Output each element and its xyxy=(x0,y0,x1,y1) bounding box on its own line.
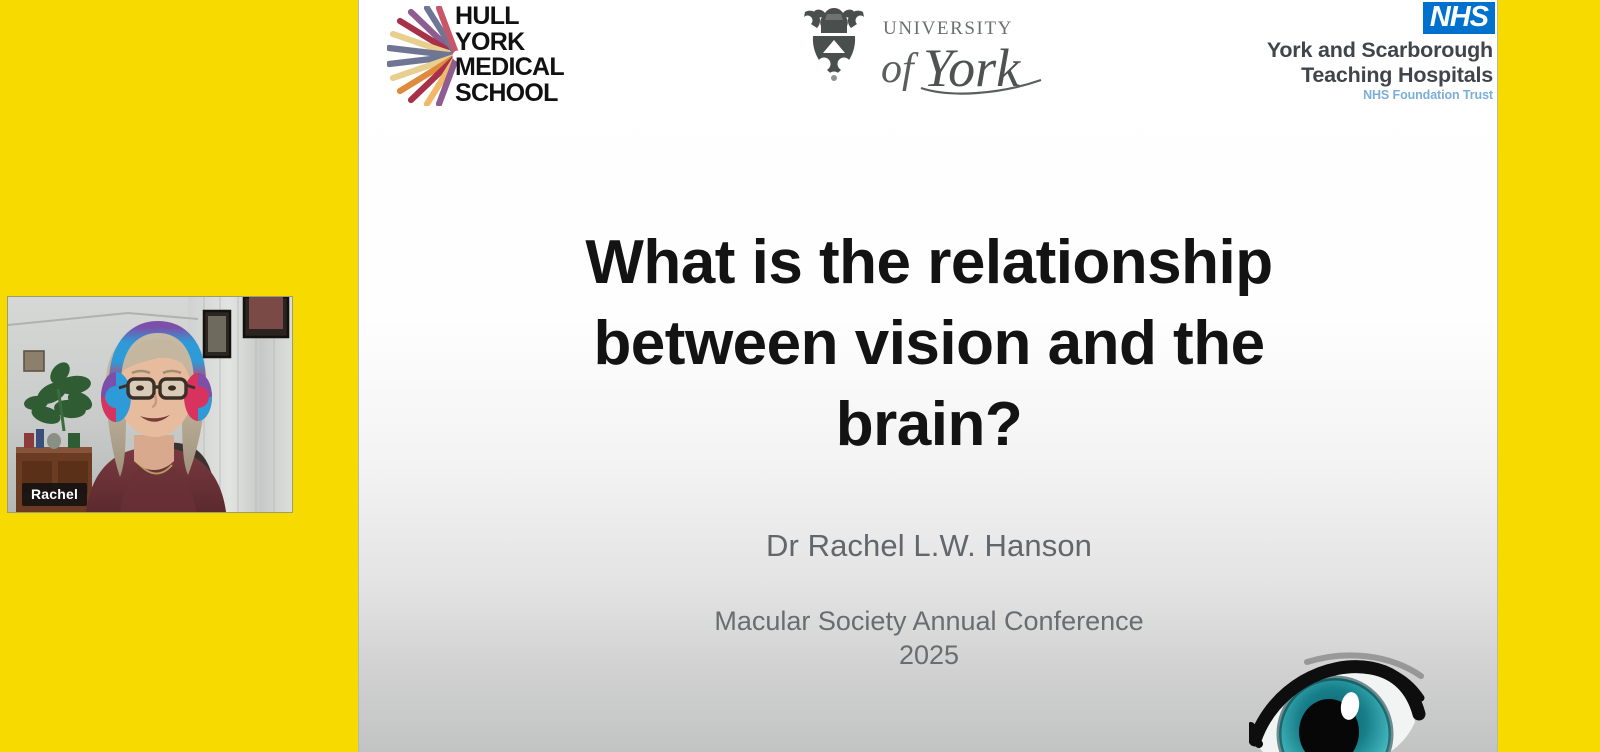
svg-text:UNIVERSITY: UNIVERSITY xyxy=(883,18,1013,39)
eye-illustration-icon xyxy=(1249,648,1429,752)
slide-logo-strip: HULL YORK MEDICAL SCHOOL xyxy=(359,0,1497,120)
slide-title-line-2: between vision and the xyxy=(429,303,1429,384)
shared-slide[interactable]: HULL YORK MEDICAL SCHOOL xyxy=(358,0,1498,752)
hyms-wordmark: HULL YORK MEDICAL SCHOOL xyxy=(455,4,564,106)
slide-title-line-1: What is the relationship xyxy=(429,222,1429,303)
heraldic-crest-icon xyxy=(791,2,877,106)
hyms-line-3: MEDICAL xyxy=(455,55,564,81)
logo-hull-york-medical-school: HULL YORK MEDICAL SCHOOL xyxy=(387,4,597,108)
university-of-york-wordmark: UNIVERSITY of York xyxy=(881,14,1049,96)
nhs-trust-line-1: York and Scarborough xyxy=(1267,38,1493,63)
logo-university-of-york: UNIVERSITY of York xyxy=(791,2,1051,110)
nhs-foundation-trust-label: NHS Foundation Trust xyxy=(1363,88,1493,102)
participant-video-feed xyxy=(8,297,292,512)
svg-text:of: of xyxy=(881,46,919,92)
starburst-icon xyxy=(387,6,465,106)
video-call-stage: HULL YORK MEDICAL SCHOOL xyxy=(0,0,1600,752)
logo-nhs-trust: NHS York and Scarborough Teaching Hospit… xyxy=(1223,0,1495,112)
slide-title-line-3: brain? xyxy=(429,384,1429,465)
svg-text:York: York xyxy=(923,38,1021,96)
slide-title: What is the relationship between vision … xyxy=(429,222,1429,465)
participant-video-tile[interactable]: Rachel xyxy=(8,297,292,512)
nhs-badge: NHS xyxy=(1423,2,1495,34)
nhs-trust-line-2: Teaching Hospitals xyxy=(1267,63,1493,88)
slide-event-line-1: Macular Society Annual Conference xyxy=(429,604,1429,638)
hyms-line-2: YORK xyxy=(455,30,564,56)
slide-presenter-name: Dr Rachel L.W. Hanson xyxy=(429,528,1429,564)
nhs-trust-name: York and Scarborough Teaching Hospitals xyxy=(1267,38,1493,88)
participant-name-label: Rachel xyxy=(22,483,87,506)
hyms-line-4: SCHOOL xyxy=(455,81,564,107)
hyms-line-1: HULL xyxy=(455,4,564,30)
